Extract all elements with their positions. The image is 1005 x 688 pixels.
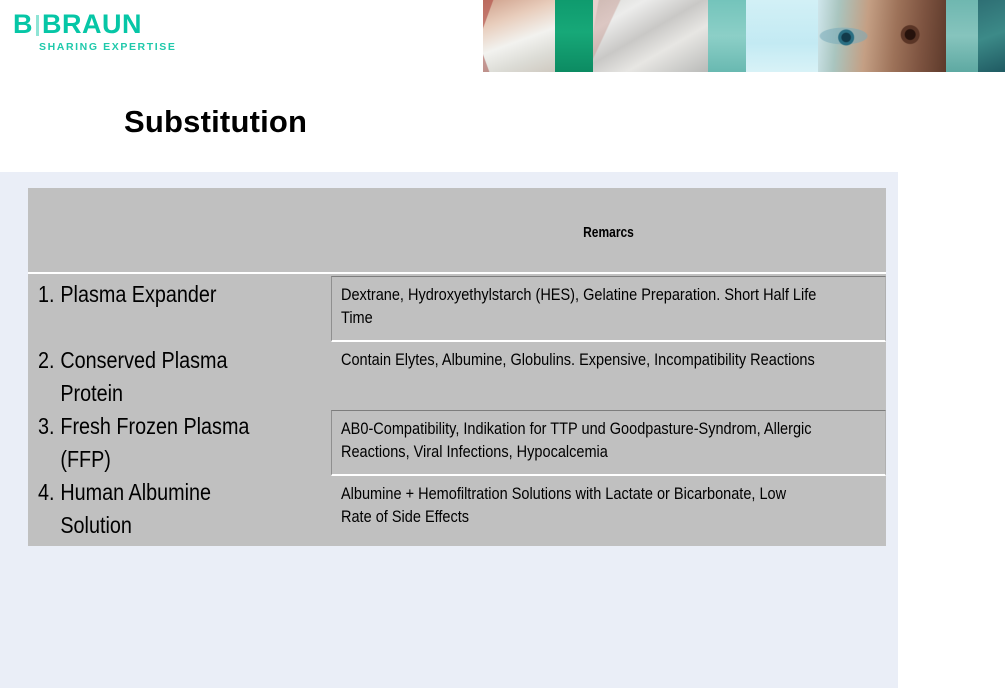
list-item: 2.Conserved Plasma Protein [38, 344, 287, 410]
table-header-row: Remarcs [28, 188, 886, 274]
list-item-label: Conserved Plasma Protein [60, 344, 275, 410]
list-item-number: 3. [38, 410, 60, 443]
table-body: 1.Plasma Expander 2.Conserved Plasma Pro… [28, 276, 886, 546]
list-item: 3.Fresh Frozen Plasma (FFP) [38, 410, 287, 476]
device-edge-band [978, 0, 1005, 72]
page-title: Substitution [124, 104, 307, 140]
list-item-number: 2. [38, 344, 60, 377]
list-item-number: 4. [38, 476, 60, 509]
list-item: 4.Human Albumine Solution [38, 476, 287, 542]
iv-line-hand-photo [483, 0, 555, 72]
table-row: Dextrane, Hydroxyethylstarch (HES), Gela… [331, 276, 886, 342]
substitution-table: Remarcs 1.Plasma Expander 2.Conserved Pl… [28, 188, 886, 546]
surgical-equipment-photo [593, 0, 708, 72]
list-item: 1.Plasma Expander [38, 278, 287, 311]
list-item-number: 1. [38, 278, 60, 311]
teal-band-2 [946, 0, 978, 72]
slide-canvas: BBRAUN SHARING EXPERTISE Substitution Re… [0, 0, 1005, 688]
remarks-cell-text: Contain Elytes, Albumine, Globulins. Exp… [341, 349, 821, 372]
header-image-strip [483, 0, 1005, 72]
table-right-column: Dextrane, Hydroxyethylstarch (HES), Gela… [331, 276, 886, 546]
green-band [555, 0, 593, 72]
logo-tagline: SHARING EXPERTISE [39, 41, 213, 53]
teal-band-1 [708, 0, 746, 72]
table-row: Contain Elytes, Albumine, Globulins. Exp… [331, 342, 886, 410]
table-row: AB0-Compatibility, Indikation for TTP un… [331, 410, 886, 476]
logo-letter-b: B [13, 9, 33, 39]
remarks-cell-text: Dextrane, Hydroxyethylstarch (HES), Gela… [341, 284, 821, 330]
logo-wordmark: BBRAUN [13, 10, 213, 38]
table-left-column: 1.Plasma Expander 2.Conserved Plasma Pro… [28, 276, 331, 546]
column-header-remarks: Remarcs [387, 224, 831, 241]
pale-blue-band [746, 0, 818, 72]
human-eye-photo [818, 0, 946, 72]
logo-divider-bar [36, 15, 39, 36]
table-row: Albumine + Hemofiltration Solutions with… [331, 476, 886, 546]
list-item-label: Human Albumine Solution [60, 476, 275, 542]
remarks-cell-text: Albumine + Hemofiltration Solutions with… [341, 483, 821, 529]
logo-word-braun: BRAUN [42, 9, 142, 39]
remarks-cell-text: AB0-Compatibility, Indikation for TTP un… [341, 418, 821, 464]
list-item-label: Plasma Expander [60, 278, 275, 311]
list-item-label: Fresh Frozen Plasma (FFP) [60, 410, 275, 476]
bbraun-logo: BBRAUN SHARING EXPERTISE [13, 10, 213, 58]
